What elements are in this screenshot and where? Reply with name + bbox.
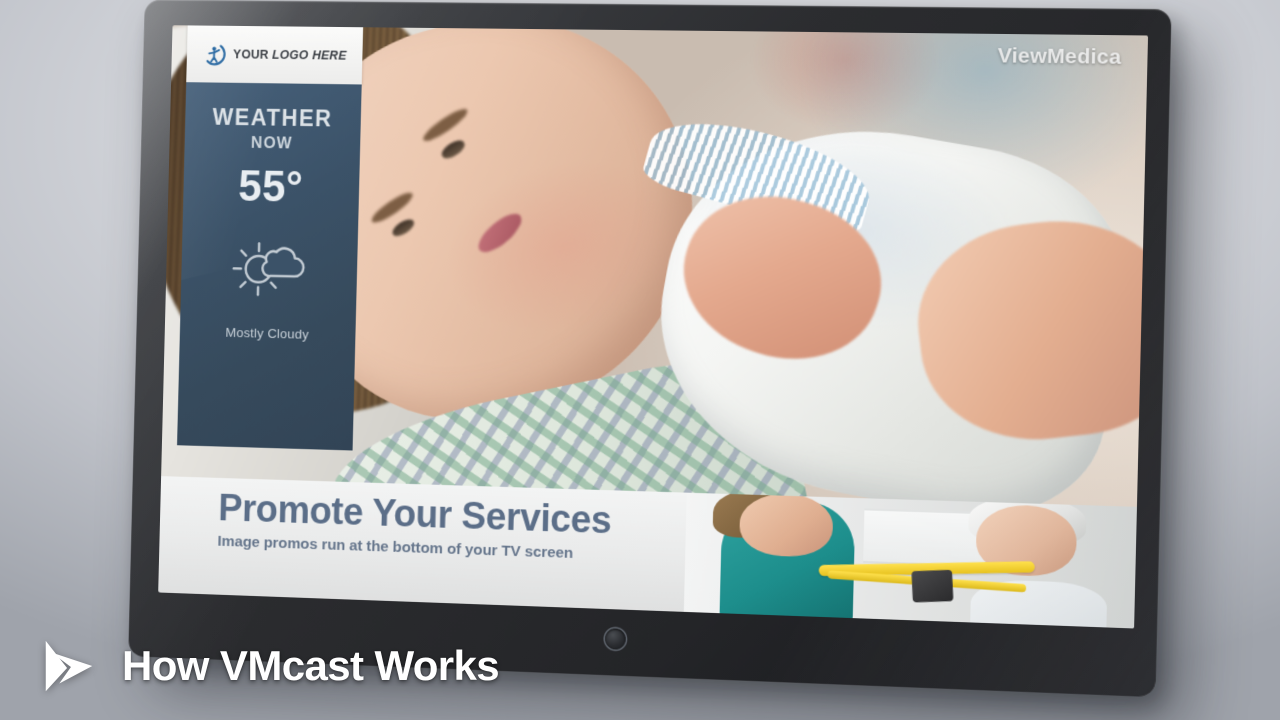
eye	[390, 216, 417, 239]
band-handle-grip	[912, 570, 954, 603]
logo-text-bold: YOUR	[233, 48, 272, 62]
patient-head	[976, 504, 1078, 578]
promo-text-block: Promote Your Services Image promos run a…	[158, 476, 687, 612]
scene-backdrop: ViewMedica YOUR LOGO HERE	[0, 0, 1280, 720]
sun-behind-cloud-icon	[228, 232, 310, 301]
logo-text: YOUR LOGO HERE	[233, 48, 347, 63]
logo-text-italic: LOGO HERE	[272, 48, 347, 63]
screen-sidebar: YOUR LOGO HERE WEATHER NOW 55°	[177, 25, 363, 450]
eye	[440, 137, 468, 161]
play-triangle-logo-icon	[38, 635, 100, 697]
nurse-body	[719, 499, 856, 628]
resistance-band	[818, 561, 1035, 576]
eyebrow	[420, 105, 471, 146]
patient-body	[970, 579, 1108, 629]
newborn-face	[664, 173, 899, 383]
resistance-band	[827, 571, 1026, 593]
weather-temperature: 55°	[190, 164, 351, 210]
nurse-hair	[713, 493, 798, 540]
person-swoosh-logo-icon	[202, 41, 227, 67]
screen-main-area: ViewMedica YOUR LOGO HERE	[161, 25, 1148, 507]
promo-banner: Promote Your Services Image promos run a…	[158, 476, 1137, 628]
newborn-cap	[640, 106, 879, 241]
weather-condition: Mostly Cloudy	[187, 324, 347, 343]
logo-bar: YOUR LOGO HERE	[186, 25, 363, 84]
television-mockup: ViewMedica YOUR LOGO HERE	[128, 0, 1171, 697]
weather-title: WEATHER	[192, 104, 353, 133]
baby-swaddle-blanket	[634, 99, 1148, 507]
adult-hand	[907, 207, 1148, 452]
viewmedica-watermark: ViewMedica	[997, 44, 1121, 70]
patient-hair	[967, 494, 1086, 546]
weather-subtitle: NOW	[192, 133, 352, 154]
weather-widget: WEATHER NOW 55°	[177, 82, 361, 450]
power-led-indicator[interactable]	[605, 628, 626, 650]
nurse-head	[739, 493, 834, 558]
mouth-smile	[473, 207, 527, 258]
clinic-shelving	[863, 508, 1018, 569]
promo-photo-physical-therapy	[684, 493, 1137, 629]
tv-screen: ViewMedica YOUR LOGO HERE	[158, 25, 1148, 628]
